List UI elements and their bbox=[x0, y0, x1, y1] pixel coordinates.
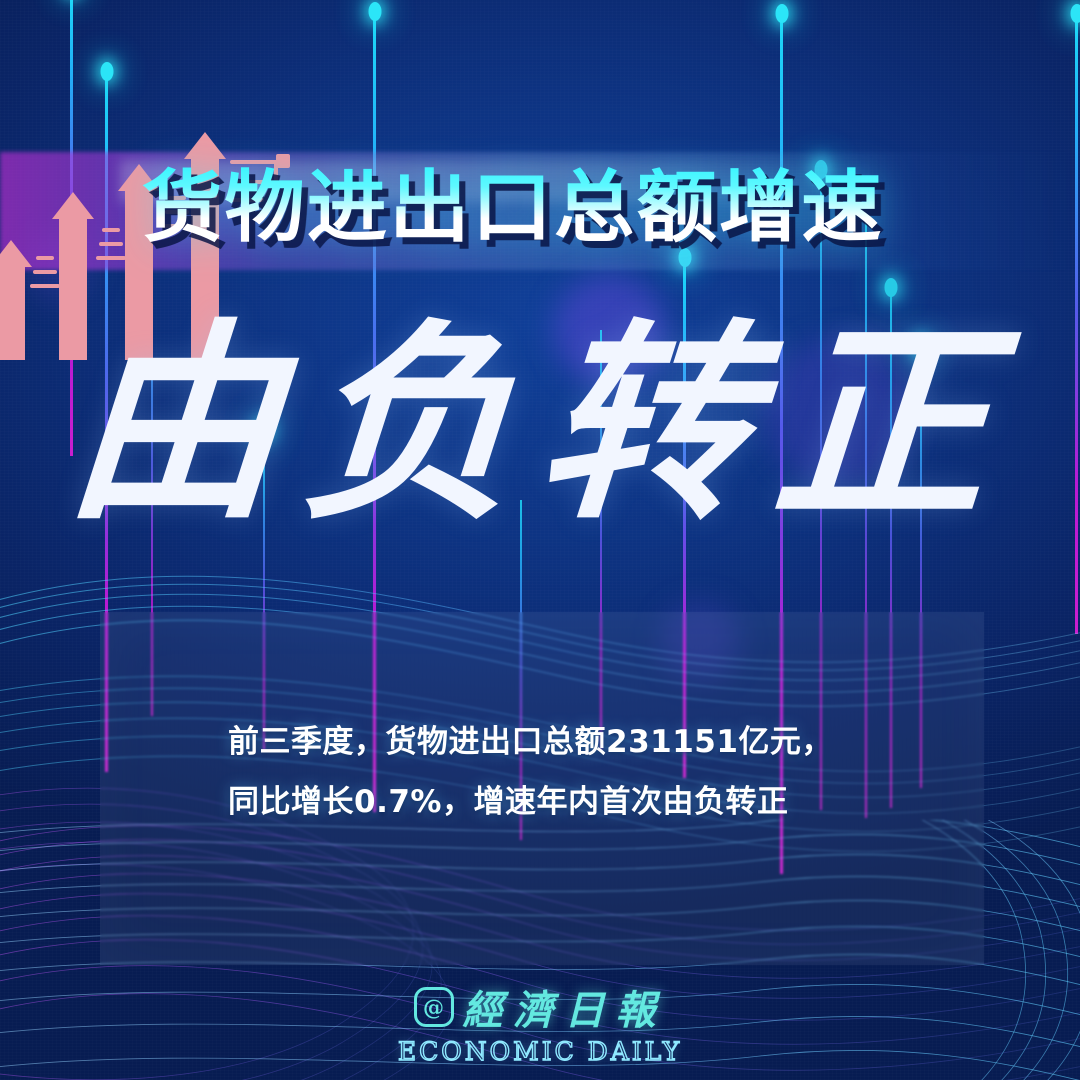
circuit-trace bbox=[96, 256, 126, 260]
body-copy-line: 前三季度，货物进出口总额231151亿元， bbox=[228, 712, 928, 772]
arrow-head-icon bbox=[0, 240, 32, 267]
logo-row: @ 經濟日報 bbox=[414, 978, 667, 1036]
circuit-trace bbox=[102, 228, 120, 232]
at-icon: @ bbox=[414, 987, 454, 1027]
poster-root: 货物进出口总额增速 由负转正 前三季度，货物进出口总额231151亿元，同比增长… bbox=[0, 0, 1080, 1080]
brand-name-en: ECONOMIC DAILY bbox=[0, 1037, 1080, 1066]
headline-calligraphy: 由负转正 bbox=[0, 318, 1080, 530]
body-copy: 前三季度，货物进出口总额231151亿元，同比增长0.7%，增速年内首次由负转正 bbox=[228, 712, 928, 833]
arrow-head-icon bbox=[52, 192, 94, 219]
circuit-trace bbox=[33, 270, 57, 274]
circuit-trace bbox=[99, 242, 123, 246]
circuit-trace bbox=[36, 256, 54, 260]
arrow-head-icon bbox=[184, 132, 226, 159]
body-copy-line: 同比增长0.7%，增速年内首次由负转正 bbox=[228, 772, 928, 832]
brand-name-cn: 經濟日報 bbox=[463, 978, 667, 1036]
page-title: 货物进出口总额增速 bbox=[142, 163, 884, 253]
footer-logo: @ 經濟日報 ECONOMIC DAILY bbox=[0, 978, 1080, 1066]
circuit-trace bbox=[30, 284, 60, 288]
